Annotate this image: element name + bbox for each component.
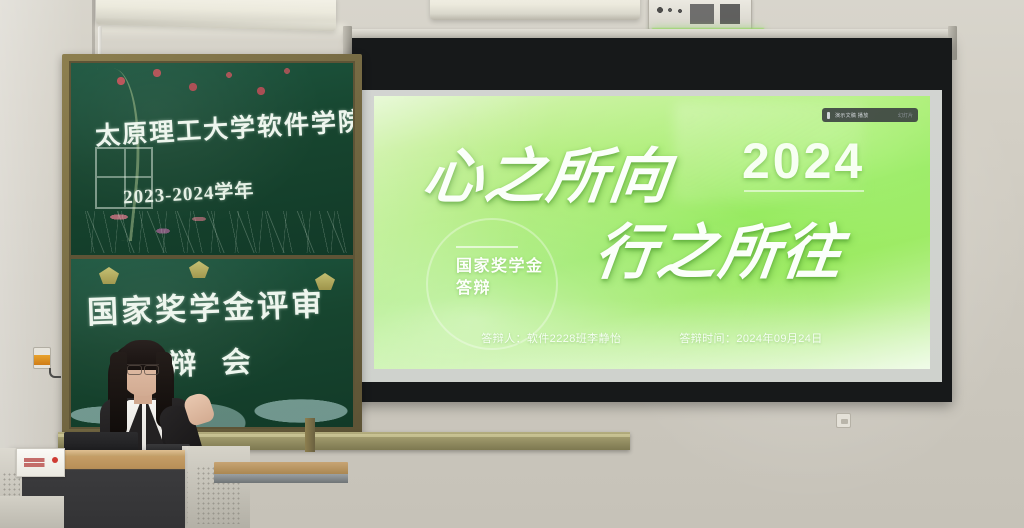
sign-text-line-2 (24, 463, 58, 467)
slide-subtitle-line-2: 答辩 (456, 278, 544, 300)
glasses-icon (127, 364, 159, 372)
blackboard-panel-top: 太原理工大学软件学院 2023-2024学年 (69, 61, 355, 257)
slide-year-rule (744, 190, 864, 192)
plum-branch-icon (80, 67, 149, 242)
slide-subtitle-rule (456, 246, 518, 248)
projection-screen: 心之所向 行之所往 2024 国家奖学金 答辩 答辩人：软件2228班李静怡 答… (352, 38, 952, 402)
slide-footer: 答辩人：软件2228班李静怡 答辩时间：2024年09月24日 (374, 330, 930, 346)
screen-surface: 心之所向 行之所往 2024 国家奖学金 答辩 答辩人：软件2228班李静怡 答… (362, 90, 942, 382)
slide-date-text: 答辩时间：2024年09月24日 (679, 330, 822, 346)
slide-calligraphy-line-1: 心之所向 (419, 128, 678, 215)
presentation-slide: 心之所向 行之所往 2024 国家奖学金 答辩 答辩人：软件2228班李静怡 答… (374, 96, 930, 369)
slide-subtitle: 国家奖学金 答辩 (456, 256, 544, 300)
grass-icon (81, 211, 355, 253)
toolbar-right-label: 幻灯片 (898, 112, 913, 119)
toolbar-label: 演示文稿 播放 (835, 112, 869, 119)
classroom-photo: 心之所向 行之所往 2024 国家奖学金 答辩 答辩人：软件2228班李静怡 答… (0, 0, 1024, 528)
lectern-name-sign (16, 448, 65, 477)
slide-presenter-text: 答辩人：软件2228班李静怡 (481, 330, 621, 346)
lantern-icon-1 (99, 267, 119, 284)
blackboard-school-title: 太原理工大学软件学院 (94, 101, 355, 152)
av-ports-icon (654, 4, 748, 24)
ceiling-light-right (430, 0, 640, 20)
blackboard-divider-post-right (305, 418, 315, 452)
slide-year: 2024 (742, 132, 865, 190)
slide-calligraphy-line-2: 行之所往 (591, 204, 850, 291)
lotus-icon (91, 201, 241, 253)
toolbar-menu-icon[interactable] (827, 112, 830, 119)
av-control-panel[interactable] (648, 0, 752, 30)
front-desk (0, 496, 64, 528)
ledge-metal-rail (214, 474, 348, 483)
wall-outlet[interactable] (836, 413, 851, 428)
presentation-toolbar[interactable]: 演示文稿 播放 幻灯片 (822, 108, 918, 122)
sign-emblem-icon (52, 457, 58, 463)
switch-cable (49, 368, 61, 378)
blackboard-event-title: 国家奖学金评审 (86, 279, 325, 332)
lantern-icon-2 (189, 261, 209, 278)
ceiling-light-glow (96, 24, 346, 40)
slide-subtitle-line-1: 国家奖学金 (456, 256, 544, 278)
blackboard-academic-year: 2023-2024学年 (122, 176, 255, 210)
switch-warning-label (34, 355, 50, 365)
presenter-hair-left (110, 352, 127, 438)
